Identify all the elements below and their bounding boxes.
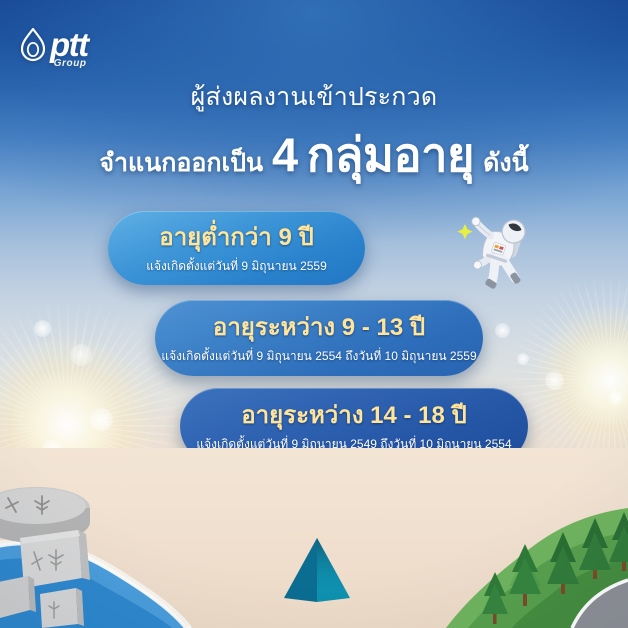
- headline-block: ผู้ส่งผลงานเข้าประกวด จำแนกออกเป็น 4 กลุ…: [0, 82, 628, 192]
- age-group-title: อายุต่ำกว่า 9 ปี: [159, 217, 313, 256]
- age-group-pill-under-9[interactable]: อายุต่ำกว่า 9 ปี แจ้งเกิดตั้งแต่วันที่ 9…: [108, 211, 365, 285]
- headline-line-2: จำแนกออกเป็น 4 กลุ่มอายุ ดังนี้: [0, 117, 628, 192]
- headline-suffix: ดังนี้: [483, 143, 529, 183]
- age-group-title: อายุระหว่าง 14 - 18 ปี: [241, 395, 467, 434]
- stone-ruins-icon: [0, 478, 144, 628]
- headline-keyword: กลุ่มอายุ: [307, 117, 474, 192]
- age-group-title: อายุระหว่าง 9 - 13 ปี: [213, 307, 425, 346]
- ptt-wordmark: ptt Group: [50, 30, 88, 60]
- astronaut-icon: [452, 208, 544, 306]
- age-group-subtitle: แจ้งเกิดตั้งแต่วันที่ 9 มิถุนายน 2559: [146, 257, 327, 276]
- headline-line-1: ผู้ส่งผลงานเข้าประกวด: [0, 82, 628, 113]
- ptt-group-logo[interactable]: ptt Group: [20, 28, 88, 62]
- age-group-pill-9-13[interactable]: อายุระหว่าง 9 - 13 ปี แจ้งเกิดตั้งแต่วัน…: [155, 300, 483, 376]
- headline-prefix: จำแนกออกเป็น: [99, 143, 263, 183]
- ptt-name: ptt: [50, 30, 88, 60]
- poster-canvas: ptt Group ผู้ส่งผลงานเข้าประกวด จำแนกออก…: [0, 0, 628, 628]
- ptt-group-suffix: Group: [54, 58, 87, 69]
- age-group-subtitle: แจ้งเกิดตั้งแต่วันที่ 9 มิถุนายน 2554 ถึ…: [161, 347, 476, 366]
- yellow-star-icon: [457, 224, 472, 239]
- headline-count: 4: [272, 127, 298, 182]
- ptt-flame-icon: [20, 28, 46, 62]
- green-hills-icon: [328, 488, 628, 628]
